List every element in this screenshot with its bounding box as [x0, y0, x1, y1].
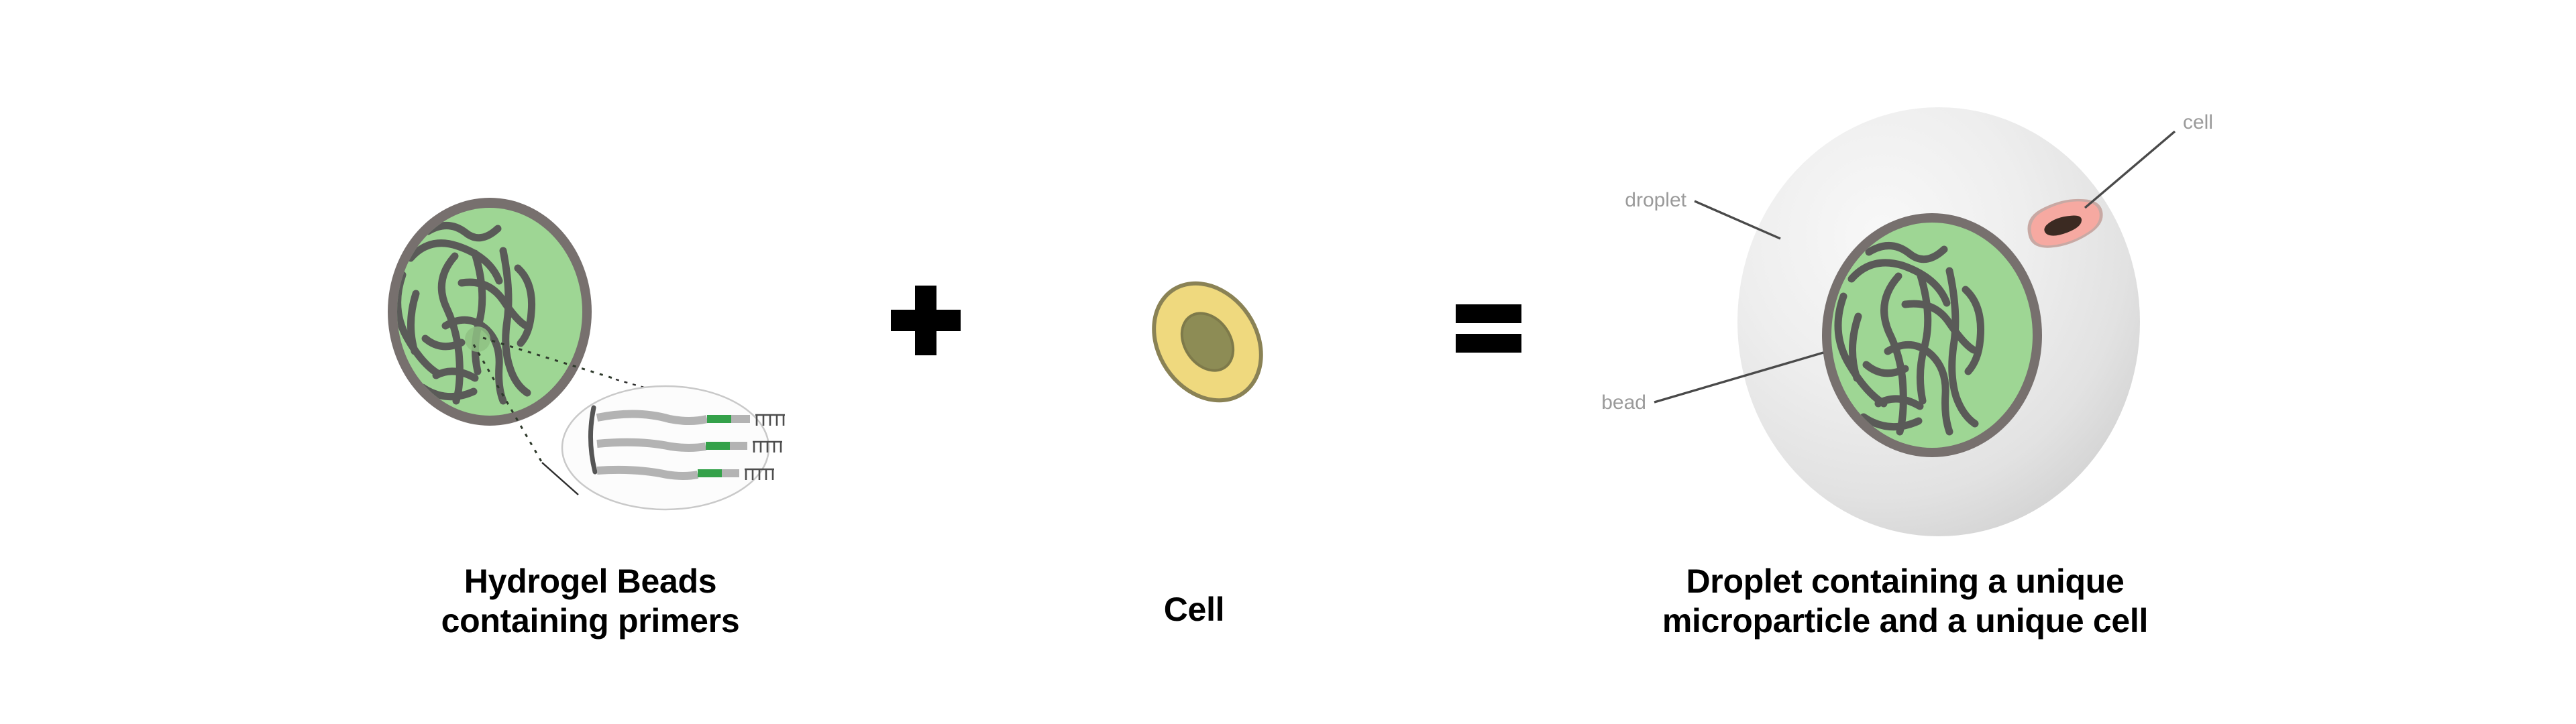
equals-operator: = — [1449, 295, 1529, 362]
bead-label: bead — [1601, 391, 1646, 414]
cell-caption: Cell — [976, 590, 1412, 629]
plus-operator: + — [885, 280, 966, 361]
droplet-label: droplet — [1625, 189, 1686, 211]
bead-zoom-origin — [465, 326, 490, 352]
droplet-caption: Droplet containing a unique microparticl… — [1550, 562, 2261, 641]
droplet-figure: cell droplet bead — [1529, 87, 2288, 556]
equals-top-bar — [1456, 304, 1521, 323]
plus-horizontal-bar — [891, 310, 961, 331]
hydrogel-bead-figure — [376, 194, 926, 570]
equals-bottom-bar — [1456, 334, 1521, 353]
bead-body — [397, 208, 582, 416]
cell-label: cell — [2183, 111, 2213, 133]
cell-leader-line — [2085, 131, 2175, 208]
cell-figure — [1114, 255, 1301, 429]
diagram-canvas: + = — [0, 0, 2576, 724]
hydrogel-beads-caption: Hydrogel Beads containing primers — [288, 562, 892, 641]
